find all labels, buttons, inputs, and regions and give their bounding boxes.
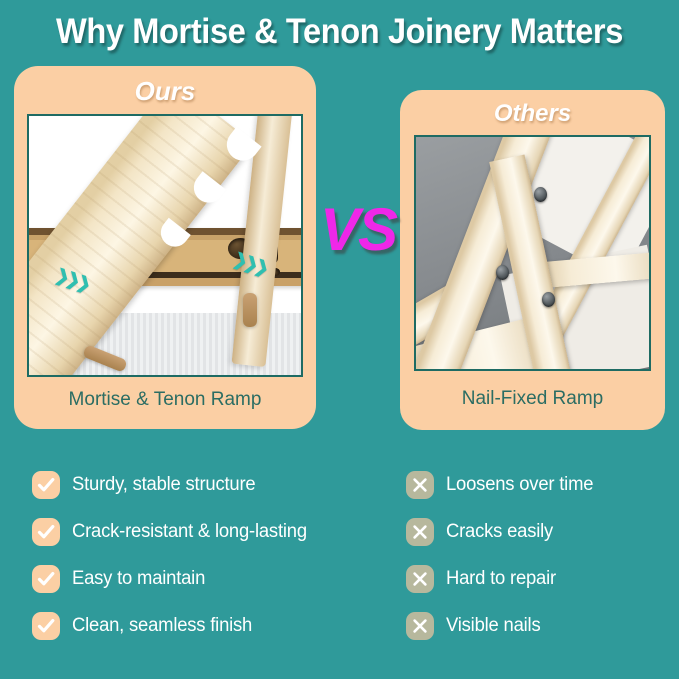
check-icon (32, 518, 60, 546)
check-icon (32, 471, 60, 499)
check-icon (32, 565, 60, 593)
list-item: Easy to maintain (32, 564, 382, 594)
nail-head-icon (542, 292, 555, 307)
mortise-tenon-scene: ❯❯❯ ❯❯❯ (29, 116, 301, 375)
x-icon (406, 565, 434, 593)
card-ours-photo: ❯❯❯ ❯❯❯ (27, 114, 303, 377)
card-others: Others Nail-Fixed Ramp (400, 90, 665, 430)
infographic-root: Why Mortise & Tenon Joinery Matters Ours… (0, 0, 679, 679)
list-item: Cracks easily (406, 517, 666, 547)
list-item: Loosens over time (406, 470, 666, 500)
vs-label: VS (314, 195, 402, 264)
list-item-label: Loosens over time (446, 474, 593, 496)
x-icon (406, 518, 434, 546)
card-others-photo (414, 135, 651, 371)
card-others-header: Others (400, 100, 665, 128)
list-item-label: Crack-resistant & long-lasting (72, 521, 307, 543)
card-ours: Ours ❯❯❯ ❯❯❯ Mortise & Tenon Ramp (14, 66, 316, 429)
list-item: Sturdy, stable structure (32, 470, 382, 500)
list-item: Visible nails (406, 611, 666, 641)
x-icon (406, 471, 434, 499)
card-others-caption: Nail-Fixed Ramp (400, 388, 665, 410)
list-item-label: Clean, seamless finish (72, 615, 252, 637)
card-ours-caption: Mortise & Tenon Ramp (14, 389, 316, 411)
list-item-label: Hard to repair (446, 568, 556, 590)
x-icon (406, 612, 434, 640)
nail-head-icon (534, 187, 547, 202)
nail-head-icon (496, 265, 509, 280)
list-item-label: Visible nails (446, 615, 540, 637)
nail-fixed-scene (416, 137, 649, 369)
list-item: Crack-resistant & long-lasting (32, 517, 382, 547)
page-title: Why Mortise & Tenon Joinery Matters (24, 12, 655, 52)
list-item-label: Cracks easily (446, 521, 553, 543)
list-item-label: Sturdy, stable structure (72, 474, 255, 496)
check-icon (32, 612, 60, 640)
pros-list: Sturdy, stable structure Crack-resistant… (32, 470, 382, 658)
wooden-dowel (243, 293, 257, 327)
list-item: Clean, seamless finish (32, 611, 382, 641)
list-item-label: Easy to maintain (72, 568, 205, 590)
cons-list: Loosens over time Cracks easily Hard to … (406, 470, 666, 658)
list-item: Hard to repair (406, 564, 666, 594)
card-ours-header: Ours (14, 76, 316, 107)
